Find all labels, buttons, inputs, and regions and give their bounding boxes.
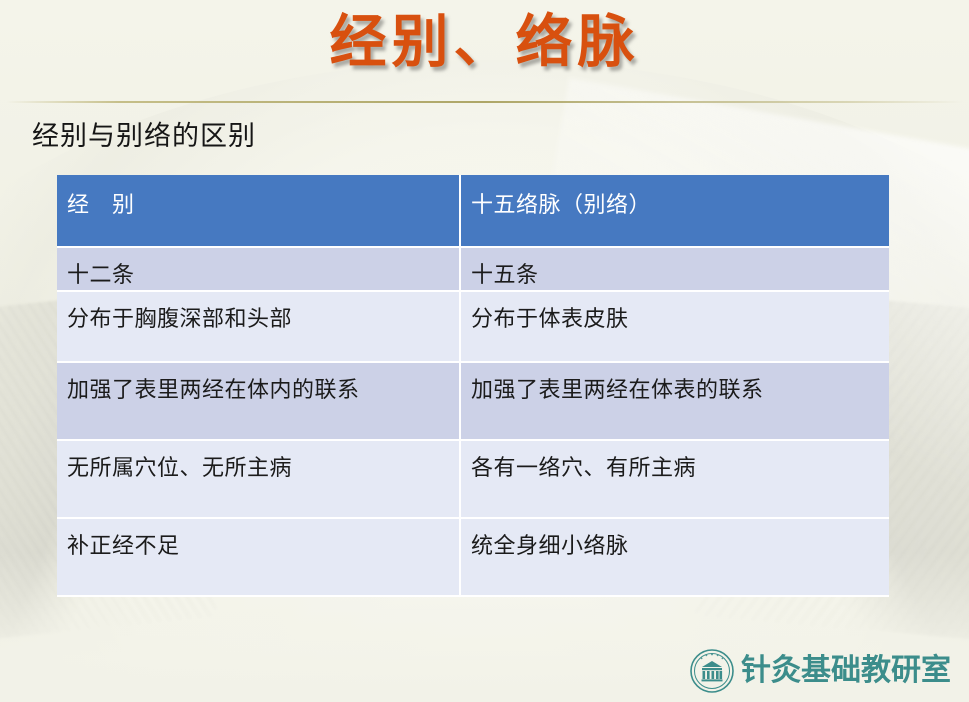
table-cell-left: 加强了表里两经在体内的联系 — [57, 363, 461, 441]
comparison-table-wrapper: 经 别 十五络脉（别络） 十二条 十五条 分布于胸腹深部和头部 分布于体表皮肤 … — [57, 175, 889, 597]
table-row: 分布于胸腹深部和头部 分布于体表皮肤 — [57, 292, 889, 363]
table-cell-left: 十二条 — [57, 248, 461, 292]
table-header: 经 别 十五络脉（别络） — [57, 175, 889, 248]
footer-logo-label: 针灸基础教研室 — [741, 656, 951, 686]
table-cell-left: 无所属穴位、无所主病 — [57, 441, 461, 519]
table-cell-right: 各有一络穴、有所主病 — [461, 441, 889, 519]
slide-canvas: 经别、络脉 经别与别络的区别 经 别 十五络脉（别络） 十二条 十五条 — [0, 0, 969, 702]
title-divider — [6, 101, 963, 103]
table-row: 无所属穴位、无所主病 各有一络穴、有所主病 — [57, 441, 889, 519]
table-row: 补正经不足 统全身细小络脉 — [57, 519, 889, 597]
table-row: 十二条 十五条 — [57, 248, 889, 292]
footer-logo: 针灸基础教研室 — [689, 648, 951, 694]
table-row: 加强了表里两经在体内的联系 加强了表里两经在体表的联系 — [57, 363, 889, 441]
slide-subtitle: 经别与别络的区别 — [32, 114, 256, 153]
table-header-row: 经 别 十五络脉（别络） — [57, 175, 889, 248]
comparison-table: 经 别 十五络脉（别络） 十二条 十五条 分布于胸腹深部和头部 分布于体表皮肤 … — [57, 175, 889, 597]
slide-title: 经别、络脉 — [0, 6, 969, 77]
table-cell-left: 补正经不足 — [57, 519, 461, 597]
table-header-cell-luomai: 十五络脉（别络） — [461, 175, 889, 248]
university-seal-icon — [689, 648, 735, 694]
table-header-cell-jingbie: 经 别 — [57, 175, 461, 248]
table-cell-right: 加强了表里两经在体表的联系 — [461, 363, 889, 441]
table-cell-right: 分布于体表皮肤 — [461, 292, 889, 363]
table-body: 十二条 十五条 分布于胸腹深部和头部 分布于体表皮肤 加强了表里两经在体内的联系… — [57, 248, 889, 597]
table-cell-left: 分布于胸腹深部和头部 — [57, 292, 461, 363]
table-cell-right: 十五条 — [461, 248, 889, 292]
table-cell-right: 统全身细小络脉 — [461, 519, 889, 597]
